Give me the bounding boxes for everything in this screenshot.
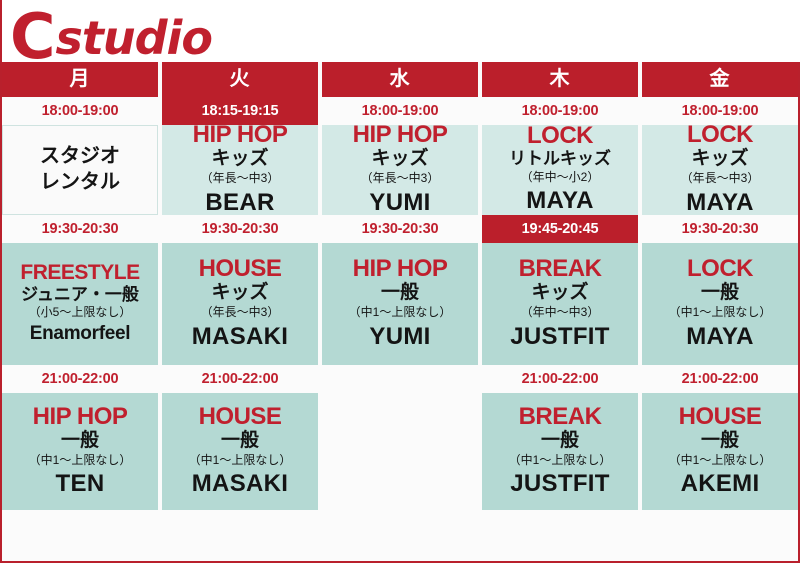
class-age-range: （年長〜中3）: [201, 171, 280, 185]
class-level: 一般: [701, 430, 739, 452]
class-style: BREAK: [519, 256, 602, 281]
class-style: LOCK: [687, 122, 753, 147]
class-time: 18:00-19:00: [482, 97, 638, 125]
class-level: リトルキッズ: [509, 149, 611, 169]
class-cell[interactable]: HOUSEキッズ（年長〜中3）MASAKI: [162, 243, 318, 365]
class-level: キッズ: [531, 282, 588, 304]
class-style: HOUSE: [199, 256, 282, 281]
class-instructor: JUSTFIT: [510, 324, 609, 350]
class-style: HIP HOP: [33, 404, 128, 429]
class-cell[interactable]: LOCK一般（中1〜上限なし）MAYA: [642, 243, 798, 365]
day-column: 月18:00-19:00スタジオレンタル19:30-20:30FREESTYLE…: [2, 62, 158, 510]
class-age-range: （中1〜上限なし）: [29, 453, 132, 467]
class-time: 18:00-19:00: [2, 97, 158, 125]
class-time: 19:30-20:30: [162, 215, 318, 243]
rental-line: レンタル: [40, 169, 120, 195]
class-level: 一般: [541, 430, 579, 452]
class-age-range: （年中〜中3）: [521, 305, 600, 319]
class-cell[interactable]: HIP HOPキッズ（年長〜中3）BEAR: [162, 125, 318, 215]
day-column: 木18:00-19:00LOCKリトルキッズ（年中〜小2）MAYA19:45-2…: [482, 62, 638, 510]
class-cell[interactable]: BREAKキッズ（年中〜中3）JUSTFIT: [482, 243, 638, 365]
class-level: キッズ: [211, 282, 268, 304]
class-style: HIP HOP: [353, 256, 448, 281]
class-time: 21:00-22:00: [482, 365, 638, 393]
class-cell[interactable]: BREAK一般（中1〜上限なし）JUSTFIT: [482, 393, 638, 510]
class-cell[interactable]: HOUSE一般（中1〜上限なし）MASAKI: [162, 393, 318, 510]
schedule-slot[interactable]: 19:30-20:30LOCK一般（中1〜上限なし）MAYA: [642, 215, 798, 365]
class-level: 一般: [61, 430, 99, 452]
class-age-range: （中1〜上限なし）: [189, 453, 292, 467]
class-age-range: （年長〜中3）: [201, 305, 280, 319]
day-header: 金: [642, 62, 798, 97]
schedule-sheet: C studio 月18:00-19:00スタジオレンタル19:30-20:30…: [0, 0, 800, 563]
class-instructor: YUMI: [369, 324, 430, 350]
logo-c-mark: C: [10, 8, 54, 65]
class-instructor: JUSTFIT: [510, 471, 609, 497]
class-style: BREAK: [519, 404, 602, 429]
schedule-slot[interactable]: 21:00-22:00HOUSE一般（中1〜上限なし）MASAKI: [162, 365, 318, 510]
class-time: 21:00-22:00: [162, 365, 318, 393]
class-instructor: Enamorfeel: [30, 324, 130, 345]
class-instructor: YUMI: [369, 190, 430, 216]
class-style: HIP HOP: [193, 122, 288, 147]
class-level: キッズ: [371, 148, 428, 170]
schedule-slot[interactable]: 18:00-19:00LOCKキッズ（年長〜中3）MAYA: [642, 97, 798, 215]
day-column: 火18:15-19:15HIP HOPキッズ（年長〜中3）BEAR19:30-2…: [162, 62, 318, 510]
brand-logo: C studio: [2, 0, 800, 62]
class-style: LOCK: [527, 123, 593, 148]
class-style: HOUSE: [199, 404, 282, 429]
class-level: 一般: [381, 282, 419, 304]
class-age-range: （年長〜中3）: [681, 171, 760, 185]
studio-rental-cell[interactable]: スタジオレンタル: [2, 125, 158, 215]
schedule-slot[interactable]: 19:30-20:30HIP HOP一般（中1〜上限なし）YUMI: [322, 215, 478, 365]
class-cell[interactable]: LOCKリトルキッズ（年中〜小2）MAYA: [482, 125, 638, 215]
class-cell[interactable]: HIP HOP一般（中1〜上限なし）TEN: [2, 393, 158, 510]
class-time: 21:00-22:00: [642, 365, 798, 393]
class-style: FREESTYLE: [20, 262, 139, 284]
class-instructor: MAYA: [526, 188, 593, 214]
class-time: 19:45-20:45: [482, 215, 638, 243]
class-age-range: （年中〜小2）: [521, 170, 600, 184]
class-age-range: （中1〜上限なし）: [349, 305, 452, 319]
class-level: キッズ: [691, 148, 748, 170]
schedule-slot[interactable]: 21:00-22:00HIP HOP一般（中1〜上限なし）TEN: [2, 365, 158, 510]
rental-label: スタジオレンタル: [40, 143, 120, 195]
schedule-slot[interactable]: [322, 365, 478, 510]
schedule-slot[interactable]: 21:00-22:00BREAK一般（中1〜上限なし）JUSTFIT: [482, 365, 638, 510]
class-instructor: MAYA: [686, 190, 753, 216]
day-header: 水: [322, 62, 478, 97]
class-age-range: （小5〜上限なし）: [29, 305, 132, 319]
class-time: 19:30-20:30: [642, 215, 798, 243]
schedule-slot[interactable]: 19:30-20:30HOUSEキッズ（年長〜中3）MASAKI: [162, 215, 318, 365]
class-age-range: （中1〜上限なし）: [509, 453, 612, 467]
schedule-slot[interactable]: 18:15-19:15HIP HOPキッズ（年長〜中3）BEAR: [162, 97, 318, 215]
class-level: 一般: [701, 282, 739, 304]
schedule-grid: 月18:00-19:00スタジオレンタル19:30-20:30FREESTYLE…: [2, 62, 798, 510]
class-style: HIP HOP: [353, 122, 448, 147]
day-header: 木: [482, 62, 638, 97]
logo-wordmark: studio: [56, 15, 212, 61]
schedule-slot[interactable]: 18:00-19:00LOCKリトルキッズ（年中〜小2）MAYA: [482, 97, 638, 215]
class-time: 19:30-20:30: [2, 215, 158, 243]
class-time: 21:00-22:00: [2, 365, 158, 393]
class-cell[interactable]: HIP HOPキッズ（年長〜中3）YUMI: [322, 125, 478, 215]
class-level: キッズ: [211, 148, 268, 170]
class-cell[interactable]: FREESTYLEジュニア・一般（小5〜上限なし）Enamorfeel: [2, 243, 158, 365]
class-instructor: TEN: [56, 471, 105, 497]
class-level: 一般: [221, 430, 259, 452]
schedule-slot[interactable]: 18:00-19:00スタジオレンタル: [2, 97, 158, 215]
class-age-range: （年長〜中3）: [361, 171, 440, 185]
class-cell[interactable]: LOCKキッズ（年長〜中3）MAYA: [642, 125, 798, 215]
class-instructor: MASAKI: [192, 324, 288, 350]
schedule-slot[interactable]: 18:00-19:00HIP HOPキッズ（年長〜中3）YUMI: [322, 97, 478, 215]
class-instructor: BEAR: [205, 190, 274, 216]
schedule-slot[interactable]: 19:45-20:45BREAKキッズ（年中〜中3）JUSTFIT: [482, 215, 638, 365]
class-level: ジュニア・一般: [21, 285, 139, 305]
empty-cell: [322, 393, 478, 510]
schedule-slot[interactable]: 21:00-22:00HOUSE一般（中1〜上限なし）AKEMI: [642, 365, 798, 510]
schedule-slot[interactable]: 19:30-20:30FREESTYLEジュニア・一般（小5〜上限なし）Enam…: [2, 215, 158, 365]
day-header: 月: [2, 62, 158, 97]
day-header: 火: [162, 62, 318, 97]
rental-line: スタジオ: [40, 143, 120, 169]
class-style: LOCK: [687, 256, 753, 281]
class-time: 19:30-20:30: [322, 215, 478, 243]
day-column: 金18:00-19:00LOCKキッズ（年長〜中3）MAYA19:30-20:3…: [642, 62, 798, 510]
class-instructor: MASAKI: [192, 471, 288, 497]
class-instructor: AKEMI: [681, 471, 760, 497]
class-cell[interactable]: HIP HOP一般（中1〜上限なし）YUMI: [322, 243, 478, 365]
class-instructor: MAYA: [686, 324, 753, 350]
class-age-range: （中1〜上限なし）: [669, 453, 772, 467]
class-age-range: （中1〜上限なし）: [669, 305, 772, 319]
class-cell[interactable]: HOUSE一般（中1〜上限なし）AKEMI: [642, 393, 798, 510]
class-style: HOUSE: [679, 404, 762, 429]
day-column: 水18:00-19:00HIP HOPキッズ（年長〜中3）YUMI19:30-2…: [322, 62, 478, 510]
